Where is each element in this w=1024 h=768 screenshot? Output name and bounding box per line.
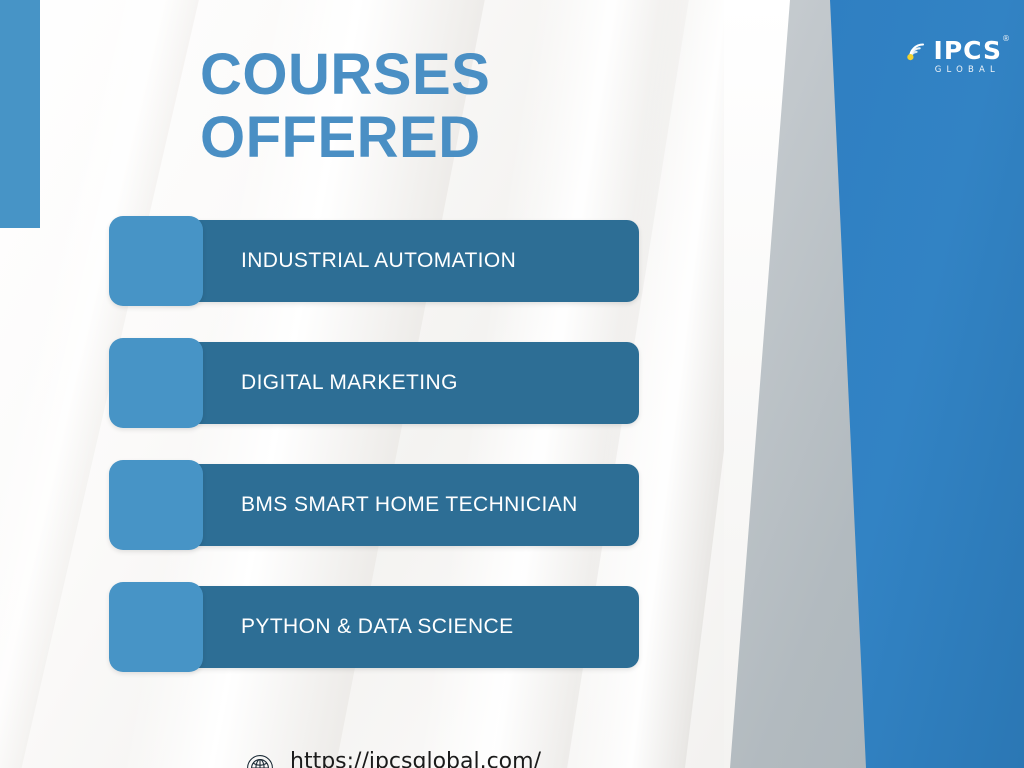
footer-website[interactable]: https://ipcsglobal.com/: [246, 748, 550, 768]
registered-mark: ®: [1002, 35, 1011, 43]
brand-logo: IPCS ® GLOBAL: [904, 38, 1002, 75]
wifi-signal-arc-icon: [904, 40, 930, 62]
logo-row: IPCS ®: [904, 38, 1002, 63]
page-title-line-1: COURSES: [200, 44, 670, 107]
page-title-line-2: OFFERED: [200, 107, 670, 170]
course-bar: BMS SMART HOME TECHNICIAN: [153, 464, 639, 546]
globe-icon: [246, 754, 274, 768]
course-bar: PYTHON & DATA SCIENCE: [153, 586, 639, 668]
logo-wordmark: IPCS ®: [934, 38, 1002, 63]
course-chip: [109, 460, 203, 550]
course-item[interactable]: DIGITAL MARKETING: [109, 338, 639, 428]
course-label: INDUSTRIAL AUTOMATION: [241, 249, 516, 273]
logo-name-text: IPCS: [934, 36, 1002, 65]
course-chip: [109, 216, 203, 306]
course-chip: [109, 338, 203, 428]
course-label: DIGITAL MARKETING: [241, 371, 458, 395]
course-item[interactable]: BMS SMART HOME TECHNICIAN: [109, 460, 639, 550]
course-bar: INDUSTRIAL AUTOMATION: [153, 220, 639, 302]
course-chip: [109, 582, 203, 672]
slide-canvas: IPCS ® GLOBAL COURSES OFFERED INDUSTRIAL…: [0, 0, 1024, 768]
course-label: BMS SMART HOME TECHNICIAN: [241, 493, 578, 517]
footer-url-text[interactable]: https://ipcsglobal.com/: [290, 748, 550, 768]
right-angular-panel: [724, 0, 1024, 768]
page-title: COURSES OFFERED: [200, 44, 670, 169]
course-item[interactable]: INDUSTRIAL AUTOMATION: [109, 216, 639, 306]
course-bar: DIGITAL MARKETING: [153, 342, 639, 424]
course-label: PYTHON & DATA SCIENCE: [241, 615, 514, 639]
course-list: INDUSTRIAL AUTOMATION DIGITAL MARKETING …: [109, 216, 639, 704]
left-accent-bar: [0, 0, 40, 228]
course-item[interactable]: PYTHON & DATA SCIENCE: [109, 582, 639, 672]
logo-subtitle: GLOBAL: [935, 66, 1000, 75]
